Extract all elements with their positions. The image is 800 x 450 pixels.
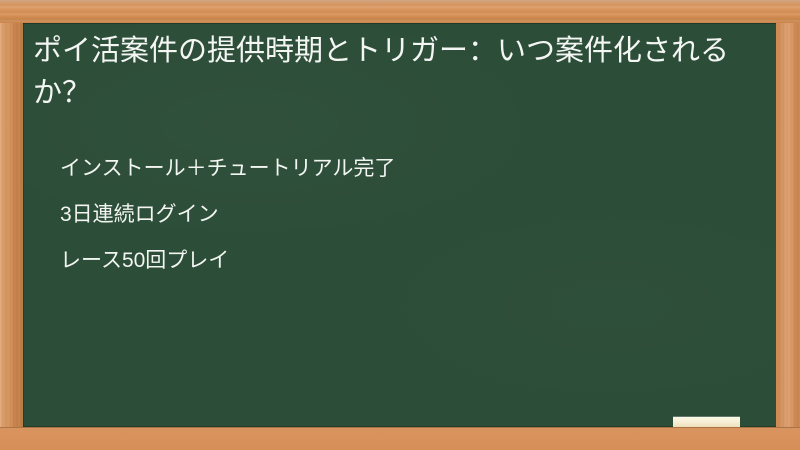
chalkboard-surface: ポイ活案件の提供時期とトリガー：いつ案件化されるか？ インストール＋チュートリア… <box>23 23 776 427</box>
list-item: インストール＋チュートリアル完了 <box>60 156 756 182</box>
list-item: 3日連続ログイン <box>60 202 756 228</box>
chalk-stick <box>673 417 740 427</box>
page-title: ポイ活案件の提供時期とトリガー：いつ案件化されるか？ <box>33 30 733 114</box>
wooden-frame-bottom-ledge <box>0 427 800 450</box>
chalkboard-slide: ポイ活案件の提供時期とトリガー：いつ案件化されるか？ インストール＋チュートリア… <box>0 0 800 450</box>
wooden-frame-top-rail <box>0 0 800 23</box>
chalkboard-content: ポイ活案件の提供時期とトリガー：いつ案件化されるか？ インストール＋チュートリア… <box>23 23 776 427</box>
trigger-list: インストール＋チュートリアル完了 3日連続ログイン レース50回プレイ <box>60 156 756 274</box>
list-item: レース50回プレイ <box>60 248 756 274</box>
